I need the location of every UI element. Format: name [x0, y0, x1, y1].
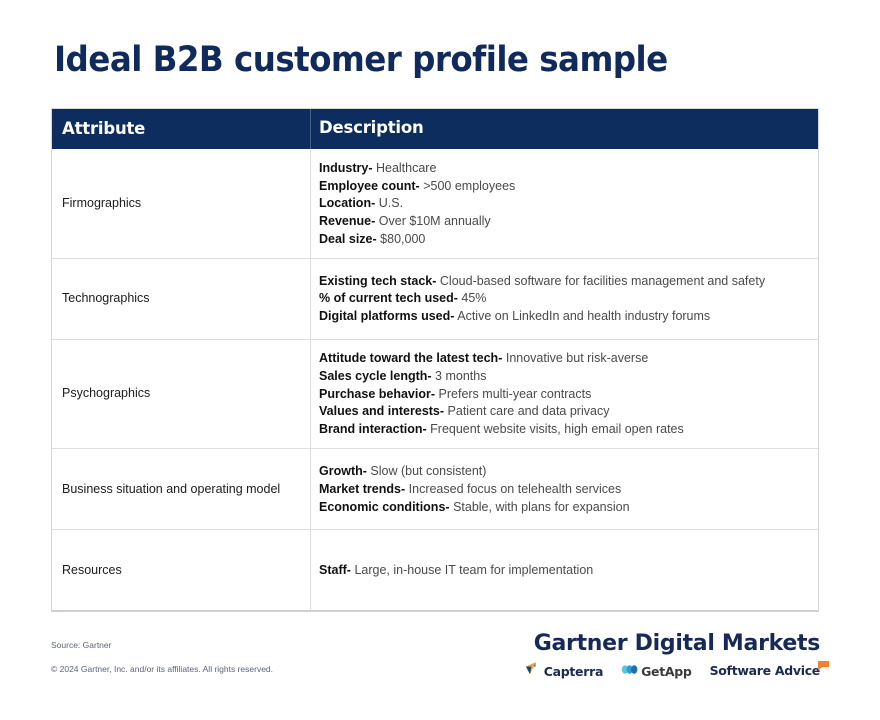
item-separator: - [371, 214, 375, 228]
item-label: Revenue [319, 214, 371, 228]
description-item: Attitude toward the latest tech- Innovat… [319, 350, 806, 368]
customer-profile-table: Attribute Description Firmographics Indu… [51, 108, 819, 612]
description-item: Growth- Slow (but consistent) [319, 463, 806, 481]
item-label: Purchase behavior [319, 387, 431, 401]
description-item: Location- U.S. [319, 195, 806, 213]
item-value: Healthcare [376, 161, 436, 175]
description-item: Existing tech stack- Cloud-based softwar… [319, 272, 806, 290]
item-separator: - [401, 482, 405, 496]
item-separator: - [368, 161, 372, 175]
page-title: Ideal B2B customer profile sample [54, 40, 668, 80]
item-separator: - [445, 500, 449, 514]
item-separator: - [371, 196, 375, 210]
item-label: % of current tech used [319, 291, 454, 305]
description-item: Economic conditions- Stable, with plans … [319, 498, 806, 516]
item-separator: - [450, 309, 454, 323]
item-label: Attitude toward the latest tech [319, 351, 498, 365]
capterra-arrow-icon [526, 662, 541, 680]
item-label: Brand interaction [319, 422, 423, 436]
item-value: Active on LinkedIn and health industry f… [457, 309, 710, 323]
item-separator: - [432, 274, 436, 288]
description-item: Industry- Healthcare [319, 159, 806, 177]
item-label: Sales cycle length [319, 369, 427, 383]
column-header-description: Description [311, 109, 818, 149]
description-item: Deal size- $80,000 [319, 230, 806, 248]
item-separator: - [423, 422, 427, 436]
capterra-logo: Capterra [526, 662, 603, 680]
item-value: Prefers multi-year contracts [439, 387, 592, 401]
item-value: Stable, with plans for expansion [453, 500, 630, 514]
item-separator: - [363, 464, 367, 478]
item-separator: - [347, 563, 351, 577]
item-separator: - [440, 404, 444, 418]
table-row: Technographics Existing tech stack- Clou… [52, 259, 818, 340]
footer-branding: Gartner Digital Markets Capterra [526, 631, 820, 680]
row-attribute-label: Psychographics [52, 340, 311, 448]
getapp-chevrons-icon [621, 662, 638, 680]
software-advice-flag-icon [818, 658, 829, 676]
item-separator: - [416, 179, 420, 193]
item-value: 3 months [435, 369, 486, 383]
description-item: Digital platforms used- Active on Linked… [319, 308, 806, 326]
item-label: Location [319, 196, 371, 210]
item-separator: - [498, 351, 502, 365]
footer-attribution: Source: Gartner © 2024 Gartner, Inc. and… [51, 640, 273, 674]
row-description-cell: Growth- Slow (but consistent) Market tre… [311, 449, 818, 529]
row-attribute-label: Resources [52, 530, 311, 610]
item-separator: - [454, 291, 458, 305]
item-value: Cloud-based software for facilities mana… [440, 274, 765, 288]
software-advice-wordmark-wrap: Software Advice [710, 662, 820, 680]
table-header-row: Attribute Description [52, 109, 818, 149]
row-attribute-label: Technographics [52, 259, 311, 339]
item-value: Frequent website visits, high email open… [430, 422, 684, 436]
item-label: Industry [319, 161, 368, 175]
getapp-label: GetApp [641, 664, 691, 679]
description-item: Staff- Large, in-house IT team for imple… [319, 561, 806, 579]
source-note: Source: Gartner [51, 640, 273, 650]
description-item: Purchase behavior- Prefers multi-year co… [319, 385, 806, 403]
slide-page: Ideal B2B customer profile sample Attrib… [0, 0, 880, 720]
item-label: Economic conditions [319, 500, 445, 514]
item-value: Increased focus on telehealth services [409, 482, 622, 496]
item-label: Existing tech stack [319, 274, 432, 288]
getapp-logo: GetApp [621, 662, 691, 680]
table-row: Resources Staff- Large, in-house IT team… [52, 530, 818, 610]
description-item: Sales cycle length- 3 months [319, 367, 806, 385]
item-label: Values and interests [319, 404, 440, 418]
row-attribute-label: Firmographics [52, 149, 311, 257]
software-advice-label: Software Advice [710, 663, 820, 678]
item-value: Large, in-house IT team for implementati… [354, 563, 593, 577]
gartner-digital-markets-wordmark: Gartner Digital Markets [526, 631, 820, 656]
item-value: $80,000 [380, 232, 425, 246]
copyright-note: © 2024 Gartner, Inc. and/or its affiliat… [51, 664, 273, 674]
table-row: Firmographics Industry- Healthcare Emplo… [52, 149, 818, 258]
table-row: Business situation and operating model G… [52, 449, 818, 530]
item-value: U.S. [379, 196, 403, 210]
table-row: Psychographics Attitude toward the lates… [52, 340, 818, 449]
row-description-cell: Staff- Large, in-house IT team for imple… [311, 530, 818, 610]
item-value: Over $10M annually [379, 214, 491, 228]
item-label: Growth [319, 464, 363, 478]
item-value: Slow (but consistent) [370, 464, 486, 478]
row-description-cell: Existing tech stack- Cloud-based softwar… [311, 259, 818, 339]
row-attribute-label: Business situation and operating model [52, 449, 311, 529]
item-separator: - [373, 232, 377, 246]
description-item: Revenue- Over $10M annually [319, 212, 806, 230]
brand-logo-row: Capterra GetApp Software Advice [526, 662, 820, 680]
item-value: Patient care and data privacy [448, 404, 610, 418]
capterra-label: Capterra [544, 664, 603, 679]
item-label: Employee count [319, 179, 416, 193]
description-item: Values and interests- Patient care and d… [319, 403, 806, 421]
column-header-attribute: Attribute [52, 109, 311, 149]
row-description-cell: Industry- Healthcare Employee count- >50… [311, 149, 818, 257]
item-value: Innovative but risk-averse [506, 351, 648, 365]
item-value: 45% [461, 291, 486, 305]
item-label: Digital platforms used [319, 309, 450, 323]
description-item: Market trends- Increased focus on telehe… [319, 480, 806, 498]
description-item: Brand interaction- Frequent website visi… [319, 420, 806, 438]
item-label: Deal size [319, 232, 373, 246]
description-item: % of current tech used- 45% [319, 290, 806, 308]
row-description-cell: Attitude toward the latest tech- Innovat… [311, 340, 818, 448]
item-separator: - [427, 369, 431, 383]
item-label: Market trends [319, 482, 401, 496]
description-item: Employee count- >500 employees [319, 177, 806, 195]
item-separator: - [431, 387, 435, 401]
item-label: Staff [319, 563, 347, 577]
item-value: >500 employees [423, 179, 515, 193]
software-advice-logo: Software Advice [710, 662, 820, 680]
